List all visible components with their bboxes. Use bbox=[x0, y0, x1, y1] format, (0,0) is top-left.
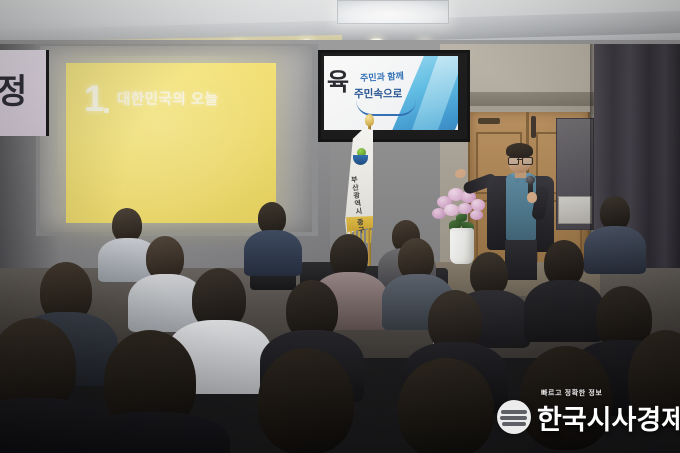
led-slogan-line2: 주민속으로 bbox=[354, 86, 402, 101]
flower-vase bbox=[450, 228, 474, 264]
audience-head bbox=[398, 358, 494, 453]
flag-finial-icon bbox=[365, 114, 374, 126]
air-conditioner-unit bbox=[558, 196, 592, 224]
flower-petal bbox=[444, 204, 459, 216]
speaker-hand-holding-mic bbox=[527, 192, 537, 203]
left-led-panel: 정 bbox=[0, 50, 49, 136]
slide-title: 대한민국의 오늘 bbox=[117, 88, 218, 109]
audience-shoulders bbox=[244, 230, 302, 276]
watermark: 빠르고 정확한 정보 한국시사경제 bbox=[497, 388, 673, 436]
slide-number: 1 bbox=[84, 80, 104, 117]
audience-head bbox=[600, 196, 630, 230]
led-smile-arc bbox=[356, 100, 416, 116]
ceiling-panel-light bbox=[337, 0, 449, 24]
audience-shoulders bbox=[584, 226, 646, 274]
slide-number-dot bbox=[104, 108, 109, 113]
leaf bbox=[456, 214, 467, 222]
watermark-tagline: 빠르고 정확한 정보 bbox=[541, 388, 602, 398]
audience-shoulders bbox=[524, 280, 604, 342]
audience-head bbox=[112, 208, 142, 242]
audience-head bbox=[258, 348, 354, 453]
photo-canvas: 1 대한민국의 오늘 정 주민과 함께 주민속으로 육 부산광역시 중구 bbox=[0, 0, 680, 453]
flower-petal bbox=[470, 210, 483, 220]
watermark-brand: 한국시사경제 bbox=[537, 398, 680, 437]
left-led-glyph: 정 bbox=[0, 64, 25, 113]
microphone-head-icon bbox=[526, 176, 535, 184]
led-slogan-line1: 주민과 함께 bbox=[360, 69, 405, 84]
led-partial-glyph: 육 bbox=[327, 62, 347, 97]
door-closer-icon bbox=[478, 118, 500, 124]
door-handle-icon bbox=[531, 116, 536, 138]
watermark-logo-icon bbox=[497, 400, 531, 434]
speaker-legs bbox=[505, 240, 537, 280]
speaker-glasses-icon bbox=[508, 157, 531, 163]
audience-shoulders bbox=[74, 412, 230, 453]
speaker-hair bbox=[506, 143, 533, 158]
